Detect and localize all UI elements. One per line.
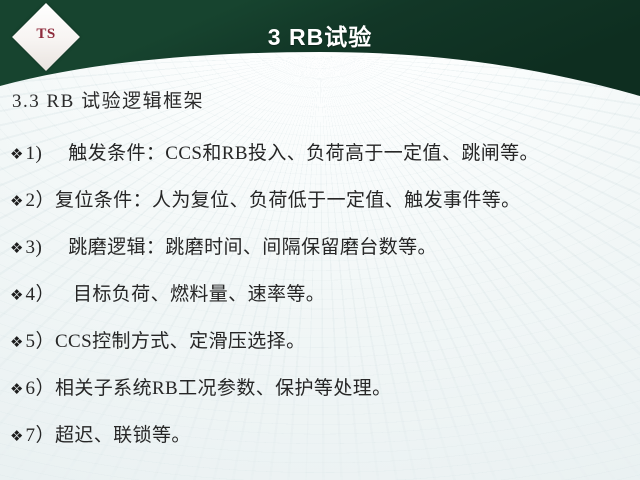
list-item-text: 触发条件：CCS和RB投入、负荷高于一定值、跳闸等。 (42, 138, 539, 165)
list-item-number: 6） (25, 373, 55, 400)
diamond-bullet-icon: ❖ (10, 147, 23, 162)
list-item-number: 2） (25, 185, 55, 212)
diamond-bullet-icon: ❖ (10, 194, 23, 209)
list-item: ❖ 2） 复位条件：人为复位、负荷低于一定值、触发事件等。 (10, 185, 634, 232)
list-item-number: 3) (25, 237, 42, 259)
list-item-text: 相关子系统RB工况参数、保护等处理。 (55, 373, 392, 400)
list-item-text: 跳磨逻辑：跳磨时间、间隔保留磨台数等。 (42, 232, 437, 259)
slide: TS 3 RB试验 3.3 RB 试验逻辑框架 ❖ 1) 触发条件：CCS和RB… (0, 0, 640, 480)
list-item: ❖ 3) 跳磨逻辑：跳磨时间、间隔保留磨台数等。 (10, 232, 634, 279)
list-item-text: 超迟、联锁等。 (55, 420, 191, 447)
diamond-bullet-icon: ❖ (10, 288, 23, 303)
diamond-bullet-icon: ❖ (10, 335, 23, 350)
list-item-number: 4） (25, 279, 55, 306)
list-item-number: 5） (25, 326, 55, 353)
list-item-text: 复位条件：人为复位、负荷低于一定值、触发事件等。 (55, 185, 521, 212)
diamond-bullet-icon: ❖ (10, 241, 23, 256)
list-item: ❖ 5） CCS控制方式、定滑压选择。 (10, 326, 634, 373)
diamond-bullet-icon: ❖ (10, 429, 23, 444)
slide-content: 3.3 RB 试验逻辑框架 ❖ 1) 触发条件：CCS和RB投入、负荷高于一定值… (0, 0, 640, 480)
section-subheading: 3.3 RB 试验逻辑框架 (12, 86, 204, 113)
page-title: 3 RB试验 (0, 18, 640, 52)
diamond-bullet-icon: ❖ (10, 382, 23, 397)
list-item-number: 1) (25, 143, 42, 165)
list-item: ❖ 1) 触发条件：CCS和RB投入、负荷高于一定值、跳闸等。 (10, 138, 634, 185)
list-item: ❖ 6） 相关子系统RB工况参数、保护等处理。 (10, 373, 634, 420)
list-item: ❖ 7） 超迟、联锁等。 (10, 420, 634, 467)
logo-ts: TS (14, 6, 78, 68)
list-item-text: CCS控制方式、定滑压选择。 (55, 326, 306, 353)
list-item-number: 7） (25, 420, 55, 447)
list-item-text: 目标负荷、燃料量、速率等。 (55, 279, 325, 306)
logo-text: TS (14, 26, 78, 43)
bullet-list: ❖ 1) 触发条件：CCS和RB投入、负荷高于一定值、跳闸等。 ❖ 2） 复位条… (10, 138, 634, 467)
list-item: ❖ 4） 目标负荷、燃料量、速率等。 (10, 279, 634, 326)
